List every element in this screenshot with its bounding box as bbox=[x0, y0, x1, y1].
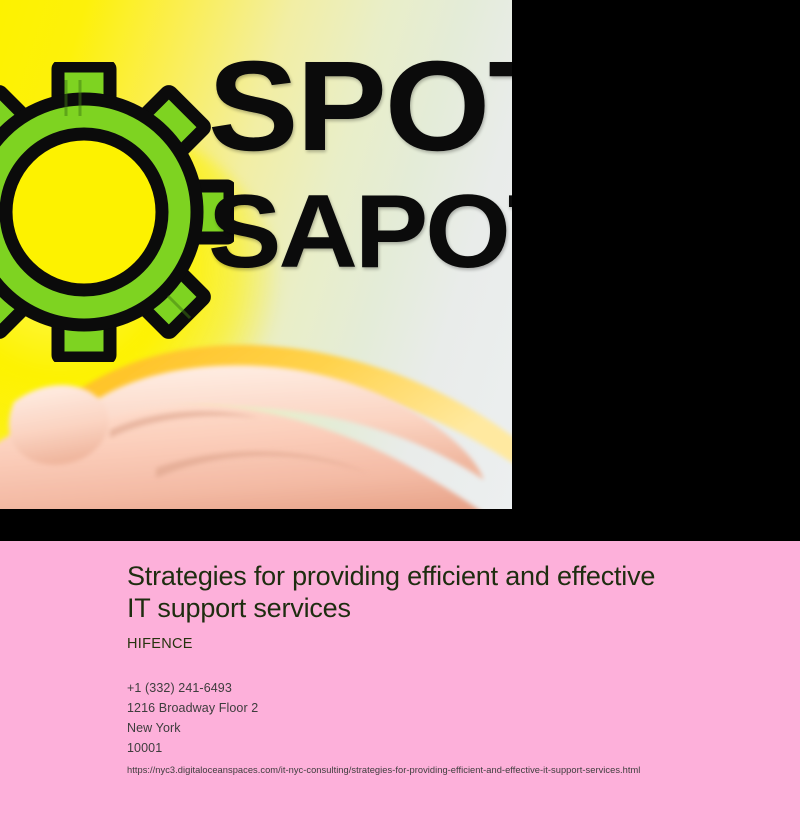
info-content: Strategies for providing efficient and e… bbox=[127, 561, 767, 775]
page-title: Strategies for providing efficient and e… bbox=[127, 561, 667, 625]
contact-street: 1216 Broadway Floor 2 bbox=[127, 698, 767, 718]
hero-headline-line-2: SAPOTI bbox=[208, 188, 512, 277]
contact-city: New York bbox=[127, 718, 767, 738]
open-hand-icon bbox=[0, 318, 512, 509]
brand-name: HIFENCE bbox=[127, 636, 767, 652]
black-right-fill bbox=[512, 0, 800, 509]
page-root: SPOT SAPOTI Strategies for providing eff… bbox=[0, 0, 800, 840]
info-panel: Strategies for providing efficient and e… bbox=[0, 541, 800, 840]
gear-icon bbox=[0, 62, 234, 362]
hero-headline-line-1: SPOT bbox=[208, 52, 512, 162]
contact-phone[interactable]: +1 (332) 241-6493 bbox=[127, 678, 767, 698]
black-separator-band bbox=[0, 509, 800, 541]
source-url[interactable]: https://nyc3.digitaloceanspaces.com/it-n… bbox=[127, 765, 767, 775]
contact-postal-code: 10001 bbox=[127, 738, 767, 758]
hero-headline: SPOT SAPOTI bbox=[208, 52, 512, 278]
hero-image: SPOT SAPOTI bbox=[0, 0, 512, 509]
contact-block: +1 (332) 241-6493 1216 Broadway Floor 2 … bbox=[127, 678, 767, 758]
